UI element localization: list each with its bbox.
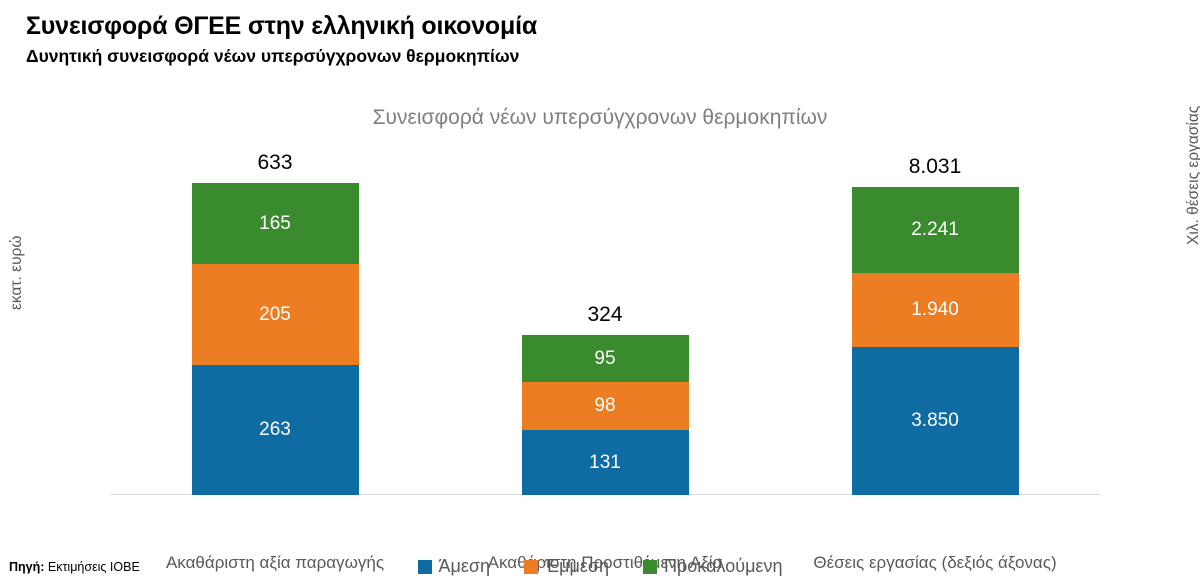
bar-segment-label: 205 [259,304,291,326]
bar-segment-label: 263 [259,419,291,441]
bar-stack: 3.8501.9402.241 [852,187,1019,495]
bar-group[interactable]: 1319895324 [522,150,689,495]
legend-swatch-icon [524,560,538,574]
bar-total-label: 324 [522,303,689,327]
bar-segment-label: 2.241 [911,219,959,241]
chart-legend: ΆμεσηΈμμεσηΠροκαλούμενη [0,556,1200,577]
legend-swatch-icon [418,560,432,574]
source-text: Εκτιμήσεις ΙΟΒΕ [44,560,139,574]
legend-label: Άμεση [439,556,491,577]
bar-group[interactable]: 263205165633 [192,150,359,495]
legend-label: Έμμεση [545,556,609,577]
page-title: Συνεισφορά ΘΓΕΕ στην ελληνική οικονομία [26,12,1126,40]
bar-total-label: 633 [192,151,359,175]
legend-item[interactable]: Έμμεση [524,556,609,577]
bar-group[interactable]: 3.8501.9402.2418.031 [852,150,1019,495]
bar-total-label: 8.031 [852,155,1019,179]
legend-item[interactable]: Προκαλούμενη [643,556,782,577]
chart-title: Συνεισφορά νέων υπερσύγχρονων θερμοκηπίω… [0,106,1200,130]
bar-stack: 1319895 [522,335,689,495]
bar-segment-label: 131 [589,452,621,474]
legend-item[interactable]: Άμεση [418,556,491,577]
bar-segment-label: 165 [259,213,291,235]
source-note: Πηγή: Εκτιμήσεις ΙΟΒΕ [9,560,140,574]
bar-segment[interactable]: 95 [522,335,689,382]
y-axis-left-title: εκατ. ευρώ [8,236,26,310]
bar-segment[interactable]: 1.940 [852,273,1019,347]
bar-segment-label: 95 [594,348,615,370]
bar-stack: 263205165 [192,183,359,495]
legend-label: Προκαλούμενη [664,556,782,577]
legend-swatch-icon [643,560,657,574]
plot-area: -100200300400500600700 01.0002.0003.0004… [110,150,1100,495]
bar-segment[interactable]: 205 [192,264,359,365]
stacked-bar-chart: Συνεισφορά νέων υπερσύγχρονων θερμοκηπίω… [0,95,1200,565]
bar-segment-label: 98 [594,395,615,417]
bar-segment[interactable]: 2.241 [852,187,1019,273]
y-axis-right-title: Χιλ. θέσεις εργασίας [1185,106,1200,245]
bar-segment-label: 1.940 [911,299,959,321]
bar-segment[interactable]: 165 [192,183,359,264]
bar-segment-label: 3.850 [911,410,959,432]
bar-segment[interactable]: 98 [522,382,689,430]
source-label: Πηγή: [9,560,44,574]
header-block: Συνεισφορά ΘΓΕΕ στην ελληνική οικονομία … [26,12,1126,66]
page-subtitle: Δυνητική συνεισφορά νέων υπερσύγχρονων θ… [26,46,1126,66]
bar-segment[interactable]: 263 [192,365,359,495]
bar-segment[interactable]: 3.850 [852,347,1019,495]
bar-segment[interactable]: 131 [522,430,689,495]
